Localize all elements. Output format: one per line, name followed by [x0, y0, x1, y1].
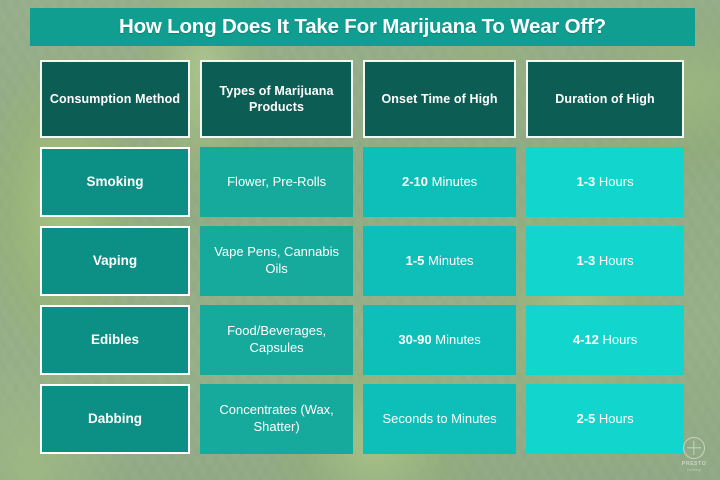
- cell-duration: 1-3 Hours: [526, 147, 684, 217]
- duration-unit: Hours: [603, 332, 638, 347]
- duration-value: 1-3: [577, 174, 596, 189]
- cell-onset-time: Seconds to Minutes: [363, 384, 516, 454]
- onset-unit: Seconds to Minutes: [383, 411, 497, 426]
- onset-unit: Minutes: [428, 253, 474, 268]
- table-row: Dabbing Concentrates (Wax, Shatter) Seco…: [40, 384, 684, 454]
- comparison-table: Consumption Method Types of Marijuana Pr…: [40, 60, 684, 463]
- cell-products: Concentrates (Wax, Shatter): [200, 384, 353, 454]
- table-header-row: Consumption Method Types of Marijuana Pr…: [40, 60, 684, 138]
- cell-onset-time: 2-10 Minutes: [363, 147, 516, 217]
- onset-unit: Minutes: [435, 332, 481, 347]
- cell-duration: 4-12 Hours: [526, 305, 684, 375]
- table-row: Vaping Vape Pens, Cannabis Oils 1-5 Minu…: [40, 226, 684, 296]
- cell-method: Dabbing: [40, 384, 190, 454]
- cell-onset-time: 1-5 Minutes: [363, 226, 516, 296]
- infographic-canvas: How Long Does It Take For Marijuana To W…: [0, 0, 720, 480]
- onset-value: 30-90: [398, 332, 431, 347]
- table-row: Edibles Food/Beverages, Capsules 30-90 M…: [40, 305, 684, 375]
- duration-value: 2-5: [577, 411, 596, 426]
- column-header-product-types: Types of Marijuana Products: [200, 60, 353, 138]
- cell-onset-time: 30-90 Minutes: [363, 305, 516, 375]
- onset-value: 2-10: [402, 174, 428, 189]
- page-title: How Long Does It Take For Marijuana To W…: [119, 15, 606, 39]
- onset-value: 1-5: [406, 253, 425, 268]
- duration-value: 1-3: [577, 253, 596, 268]
- title-banner: How Long Does It Take For Marijuana To W…: [30, 8, 695, 46]
- cell-method: Smoking: [40, 147, 190, 217]
- duration-unit: Hours: [599, 253, 634, 268]
- cell-method: Edibles: [40, 305, 190, 375]
- table-row: Smoking Flower, Pre-Rolls 2-10 Minutes 1…: [40, 147, 684, 217]
- cell-duration: 1-3 Hours: [526, 226, 684, 296]
- cell-products: Food/Beverages, Capsules: [200, 305, 353, 375]
- onset-unit: Minutes: [432, 174, 478, 189]
- cell-products: Flower, Pre-Rolls: [200, 147, 353, 217]
- column-header-onset-time: Onset Time of High: [363, 60, 516, 138]
- column-header-duration: Duration of High: [526, 60, 684, 138]
- cell-products: Vape Pens, Cannabis Oils: [200, 226, 353, 296]
- duration-value: 4-12: [573, 332, 599, 347]
- duration-unit: Hours: [599, 411, 634, 426]
- duration-unit: Hours: [599, 174, 634, 189]
- cell-duration: 2-5 Hours: [526, 384, 684, 454]
- cell-method: Vaping: [40, 226, 190, 296]
- column-header-consumption-method: Consumption Method: [40, 60, 190, 138]
